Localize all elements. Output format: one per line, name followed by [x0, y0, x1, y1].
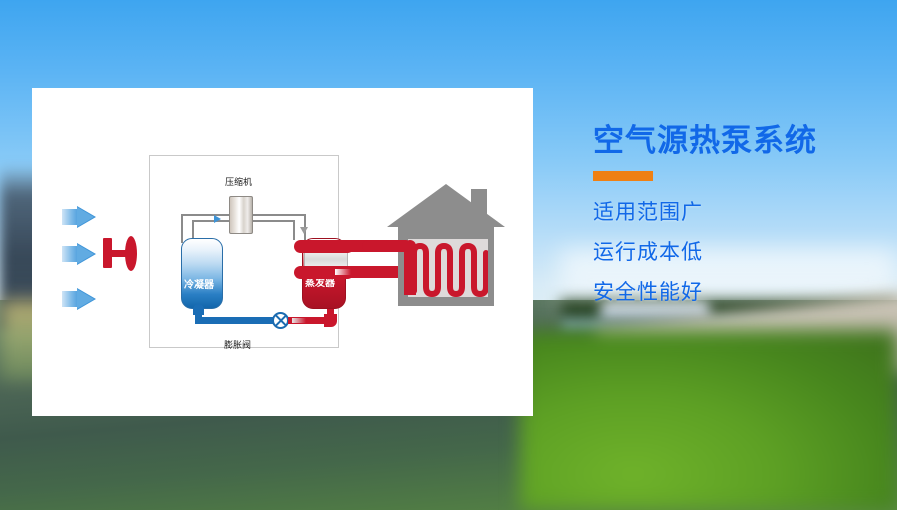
accent-bar [593, 171, 653, 181]
air-arrow-icon-2 [62, 243, 96, 265]
fan-icon [103, 238, 139, 269]
air-arrow-icon-3 [62, 288, 96, 310]
slide-canvas: 压缩机 冷凝器 膨胀阀 [0, 0, 897, 510]
pipe-hot-elbow [324, 314, 337, 327]
text-column: 空气源热泵系统 适用范围广 运行成本低 安全性能好 [593, 125, 893, 322]
air-arrow-icon-1 [62, 206, 96, 228]
pipe-gas-top-a [181, 214, 231, 216]
pipe-gas-right-down2 [293, 220, 295, 240]
label-expansion-valve: 膨胀阀 [224, 338, 251, 351]
label-compressor: 压缩机 [225, 175, 252, 188]
list-item: 适用范围广 [593, 202, 893, 223]
pipe-house-top-bend [362, 240, 412, 252]
pipe-gas-left-up [181, 215, 183, 243]
flow-arrow-icon-out [300, 227, 308, 234]
pipe-liquid-horizontal [195, 317, 273, 324]
feature-list: 适用范围广 运行成本低 安全性能好 [593, 202, 893, 303]
flow-arrow-icon-in [214, 215, 221, 223]
pipe-liquid-elbow [193, 304, 204, 315]
heat-pump-diagram: 压缩机 冷凝器 膨胀阀 [32, 88, 533, 416]
house-roof [387, 184, 505, 227]
label-condenser: 冷凝器 [184, 276, 214, 291]
background-grass [520, 330, 897, 510]
flow-arrow-icon-return [335, 269, 351, 275]
expansion-valve-icon [272, 312, 289, 329]
list-item: 安全性能好 [593, 282, 893, 303]
pipe-gas-right-a [253, 214, 305, 216]
diagram-panel: 压缩机 冷凝器 膨胀阀 [32, 88, 533, 416]
pipe-gas-right-b [253, 220, 294, 222]
page-title: 空气源热泵系统 [593, 125, 893, 158]
pipe-gas-top-b [192, 220, 231, 222]
floor-heating-area [408, 239, 488, 297]
list-item: 运行成本低 [593, 242, 893, 263]
floor-heating-coil-icon [408, 239, 488, 297]
compressor-unit [229, 196, 253, 234]
condenser-unit [181, 238, 223, 309]
flow-arrow-icon-valve [292, 318, 306, 323]
